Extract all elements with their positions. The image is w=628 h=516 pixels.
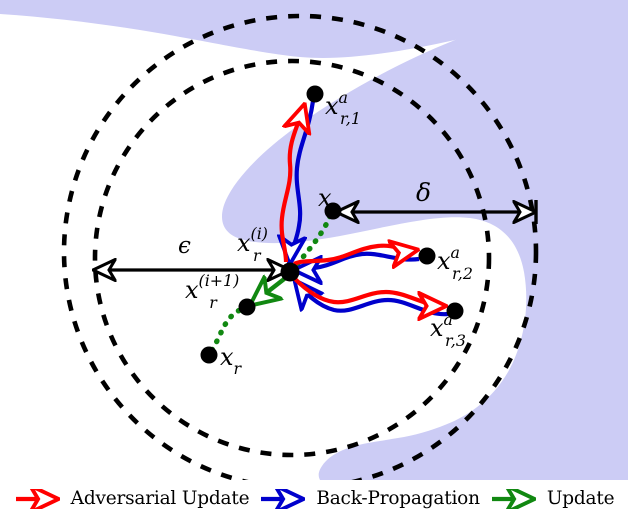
label-x-r-i1: x(i+1)r bbox=[185, 276, 247, 307]
point-x-r bbox=[201, 347, 218, 364]
update-solid-arrow bbox=[252, 276, 288, 304]
label-x-r-a-3: xar,3 bbox=[430, 314, 474, 345]
legend: Adversarial Update Back-Propagation bbox=[0, 481, 628, 516]
legend-label-back-propagation: Back-Propagation bbox=[316, 488, 480, 509]
point-x-r-a-2 bbox=[419, 248, 436, 265]
label-x-r-i: x(i)r bbox=[237, 229, 276, 260]
label-x-r-a-1: xar,1 bbox=[325, 92, 369, 123]
point-x-r-i bbox=[281, 263, 300, 282]
legend-item-update: Update bbox=[490, 488, 615, 509]
diagram-canvas bbox=[0, 0, 628, 516]
label-delta: δ bbox=[416, 180, 431, 205]
legend-label-adversarial-update: Adversarial Update bbox=[71, 488, 250, 509]
label-x-o: xo bbox=[318, 186, 341, 215]
legend-swatch-update bbox=[490, 489, 544, 509]
legend-item-adversarial-update: Adversarial Update bbox=[14, 488, 250, 509]
figure-root: xar,1 xo x(i)r xar,2 xar,3 x(i+1)r xr ϵ … bbox=[0, 0, 628, 516]
label-epsilon: ϵ bbox=[178, 235, 191, 258]
legend-label-update: Update bbox=[547, 488, 615, 509]
label-x-r-a-2: xar,2 bbox=[437, 247, 481, 278]
legend-item-back-propagation: Back-Propagation bbox=[259, 488, 480, 509]
legend-swatch-back-propagation bbox=[259, 489, 313, 509]
legend-swatch-adversarial-update bbox=[14, 489, 68, 509]
point-x-r-a-1 bbox=[307, 86, 324, 103]
label-x-r: xr bbox=[220, 345, 241, 374]
